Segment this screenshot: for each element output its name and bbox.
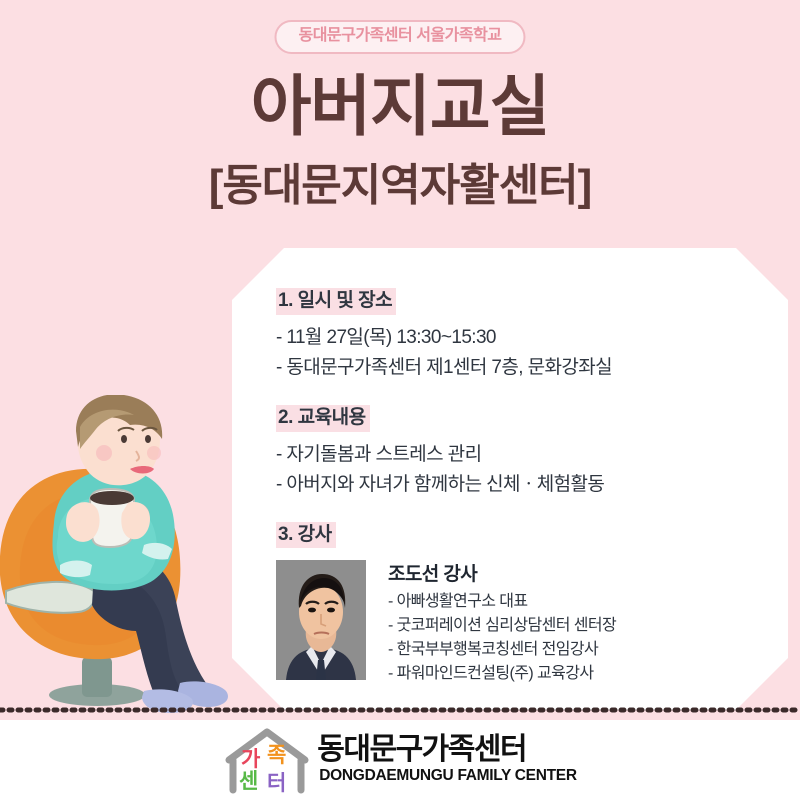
footer-name-english: DONGDAEMUNGU FAMILY CENTER <box>319 767 576 786</box>
section-heading-3-wrap: 3. 강사 <box>276 522 754 549</box>
section-heading-1: 1. 일시 및 장소 <box>276 288 396 315</box>
poster-canvas: 동대문구가족센터 서울가족학교 아버지교실 [동대문지역자활센터] <box>0 0 800 800</box>
page-title: 아버지교실 <box>0 72 800 141</box>
svg-text:족: 족 <box>267 744 286 767</box>
instructor-details: 조도선 강사 - 아빠생활연구소 대표 - 굿코퍼레이션 심리상담센터 센터장 … <box>388 560 616 686</box>
content-card-body: 1. 일시 및 장소 - 11월 27일(목) 13:30~15:30 - 동대… <box>232 248 788 710</box>
section-2-item-1: - 아버지와 자녀가 함께하는 신체ㆍ체험활동 <box>276 470 754 500</box>
section-2-item-0: - 자기돌봄과 스트레스 관리 <box>276 440 754 470</box>
page-subtitle: [동대문지역자활센터] <box>0 160 800 213</box>
instructor-credential-1: - 굿코퍼레이션 심리상담센터 센터장 <box>388 614 616 638</box>
illustration-man-with-mug <box>0 395 244 713</box>
family-center-logo-icon: 가 족 센 터 <box>223 726 311 794</box>
section-1-item-1: - 동대문구가족센터 제1센터 7층, 문화강좌실 <box>276 353 754 383</box>
instructor-credential-3: - 파워마인드컨설팅(주) 교육강사 <box>388 662 616 686</box>
section-heading-2: 2. 교육내용 <box>276 405 370 432</box>
instructor-name: 조도선 강사 <box>388 562 616 588</box>
section-1-item-0: - 11월 27일(목) 13:30~15:30 <box>276 323 754 353</box>
footer-text-block: 동대문구가족센터 DONGDAEMUNGU FAMILY CENTER <box>317 734 576 786</box>
dotted-divider <box>0 707 800 713</box>
content-card: 1. 일시 및 장소 - 11월 27일(목) 13:30~15:30 - 동대… <box>232 248 788 710</box>
section-heading-2-wrap: 2. 교육내용 <box>276 405 754 432</box>
instructor-row: 조도선 강사 - 아빠생활연구소 대표 - 굿코퍼레이션 심리상담센터 센터장 … <box>276 560 754 686</box>
instructor-photo <box>276 560 366 680</box>
svg-text:터: 터 <box>267 772 286 794</box>
footer-name-korean: 동대문구가족센터 <box>317 734 576 766</box>
instructor-portrait-image <box>276 560 366 680</box>
svg-text:가: 가 <box>241 748 261 771</box>
footer: 가 족 센 터 동대문구가족센터 DONGDAEMUNGU FAMILY CEN… <box>0 720 800 800</box>
program-badge: 동대문구가족센터 서울가족학교 <box>274 20 525 54</box>
svg-text:센: 센 <box>239 770 258 793</box>
instructor-credential-0: - 아빠생활연구소 대표 <box>388 590 616 614</box>
section-heading-3: 3. 강사 <box>276 522 336 549</box>
instructor-credential-2: - 한국부부행복코칭센터 전임강사 <box>388 638 616 662</box>
section-heading-1-wrap: 1. 일시 및 장소 <box>276 288 754 315</box>
